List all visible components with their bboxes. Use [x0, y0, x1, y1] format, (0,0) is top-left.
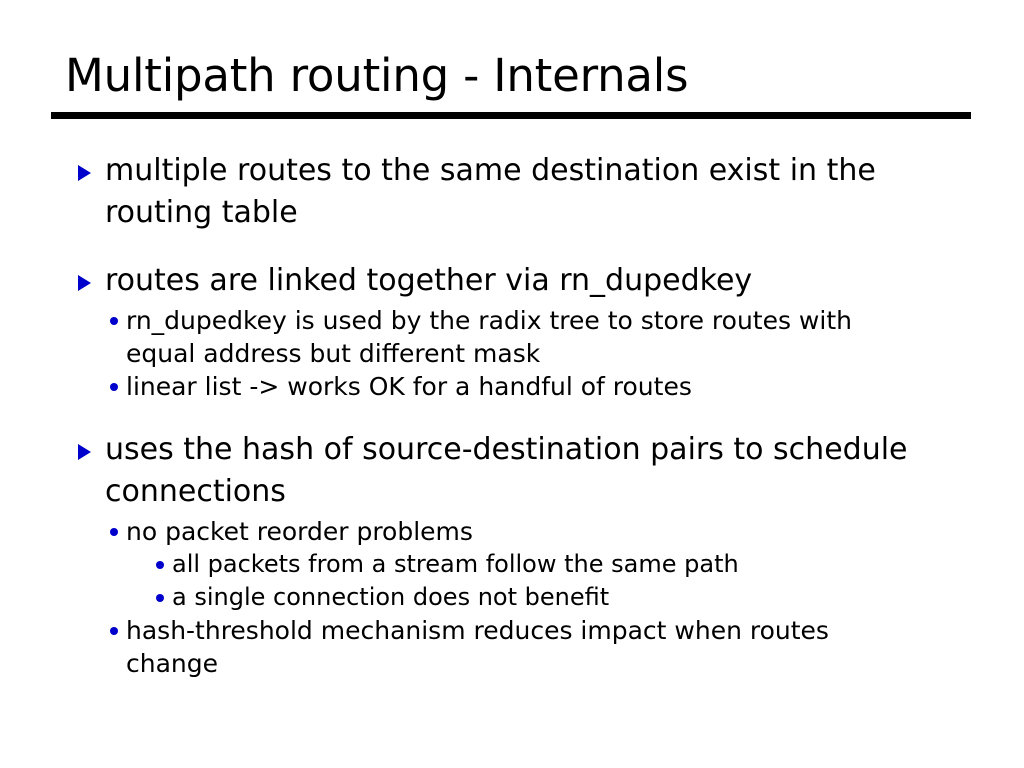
dot-icon [156, 594, 164, 602]
bullet-level3: a single connection does not benefit [0, 581, 1024, 614]
title-block: Multipath routing - Internals [51, 48, 971, 119]
bullet-text: hash-threshold mechanism reduces impact … [126, 614, 912, 680]
title-underline-rule [51, 112, 971, 119]
bullet-level1: routes are linked together via rn_dupedk… [0, 260, 1024, 302]
bullet-text: routes are linked together via rn_dupedk… [105, 260, 924, 302]
bullet-level2: rn_dupedkey is used by the radix tree to… [0, 304, 1024, 370]
bullet-text: uses the hash of source-destination pair… [105, 429, 924, 513]
dot-icon [110, 317, 118, 325]
triangle-right-icon [78, 444, 91, 460]
bullet-text: all packets from a stream follow the sam… [172, 548, 912, 581]
bullet-level2: no packet reorder problems [0, 515, 1024, 548]
bullet-level2: linear list -> works OK for a handful of… [0, 370, 1024, 403]
bullet-text: linear list -> works OK for a handful of… [126, 370, 912, 403]
bullet-level1: uses the hash of source-destination pair… [0, 429, 1024, 513]
dot-icon [156, 561, 164, 569]
page-title: Multipath routing - Internals [51, 48, 971, 104]
bullet-text: no packet reorder problems [126, 515, 912, 548]
bullet-text: rn_dupedkey is used by the radix tree to… [126, 304, 912, 370]
dot-icon [110, 627, 118, 635]
bullet-level3: all packets from a stream follow the sam… [0, 548, 1024, 581]
slide-body: multiple routes to the same destination … [0, 150, 1024, 680]
bullet-group: routes are linked together via rn_dupedk… [0, 260, 1024, 403]
bullet-level1: multiple routes to the same destination … [0, 150, 1024, 234]
dot-icon [110, 528, 118, 536]
bullet-group: multiple routes to the same destination … [0, 150, 1024, 234]
triangle-right-icon [78, 165, 91, 181]
slide: Multipath routing - Internals multiple r… [0, 0, 1024, 768]
dot-icon [110, 383, 118, 391]
bullet-text: a single connection does not benefit [172, 581, 912, 614]
bullet-group: uses the hash of source-destination pair… [0, 429, 1024, 680]
bullet-text: multiple routes to the same destination … [105, 150, 924, 234]
triangle-right-icon [78, 275, 91, 291]
bullet-level2: hash-threshold mechanism reduces impact … [0, 614, 1024, 680]
